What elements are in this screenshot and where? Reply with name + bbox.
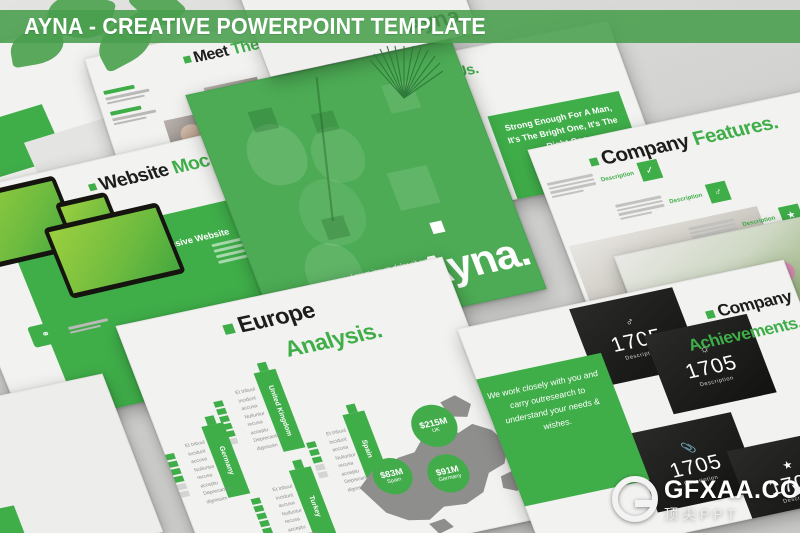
title-banner: AYNA - CREATIVE POWERPOINT TEMPLATE: [0, 10, 800, 43]
watermark-subtitle: 顶尖PPT: [664, 507, 800, 521]
palm-leaf-svg: [364, 46, 444, 100]
gfxaa-logo-icon: [612, 476, 658, 522]
paper-plane-icon: ➤: [789, 477, 800, 504]
mockup-scene: Ayna. Works. Meet The Team.: [0, 0, 800, 533]
banner-title: AYNA - CREATIVE POWERPOINT TEMPLATE: [0, 13, 486, 40]
palm-leaf-decor: [364, 46, 444, 100]
watermark: GFXAA.COM 顶尖PPT ➤: [612, 468, 800, 530]
watermark-text: GFXAA.COM 顶尖PPT: [664, 478, 800, 521]
watermark-site: GFXAA.COM: [664, 478, 800, 503]
